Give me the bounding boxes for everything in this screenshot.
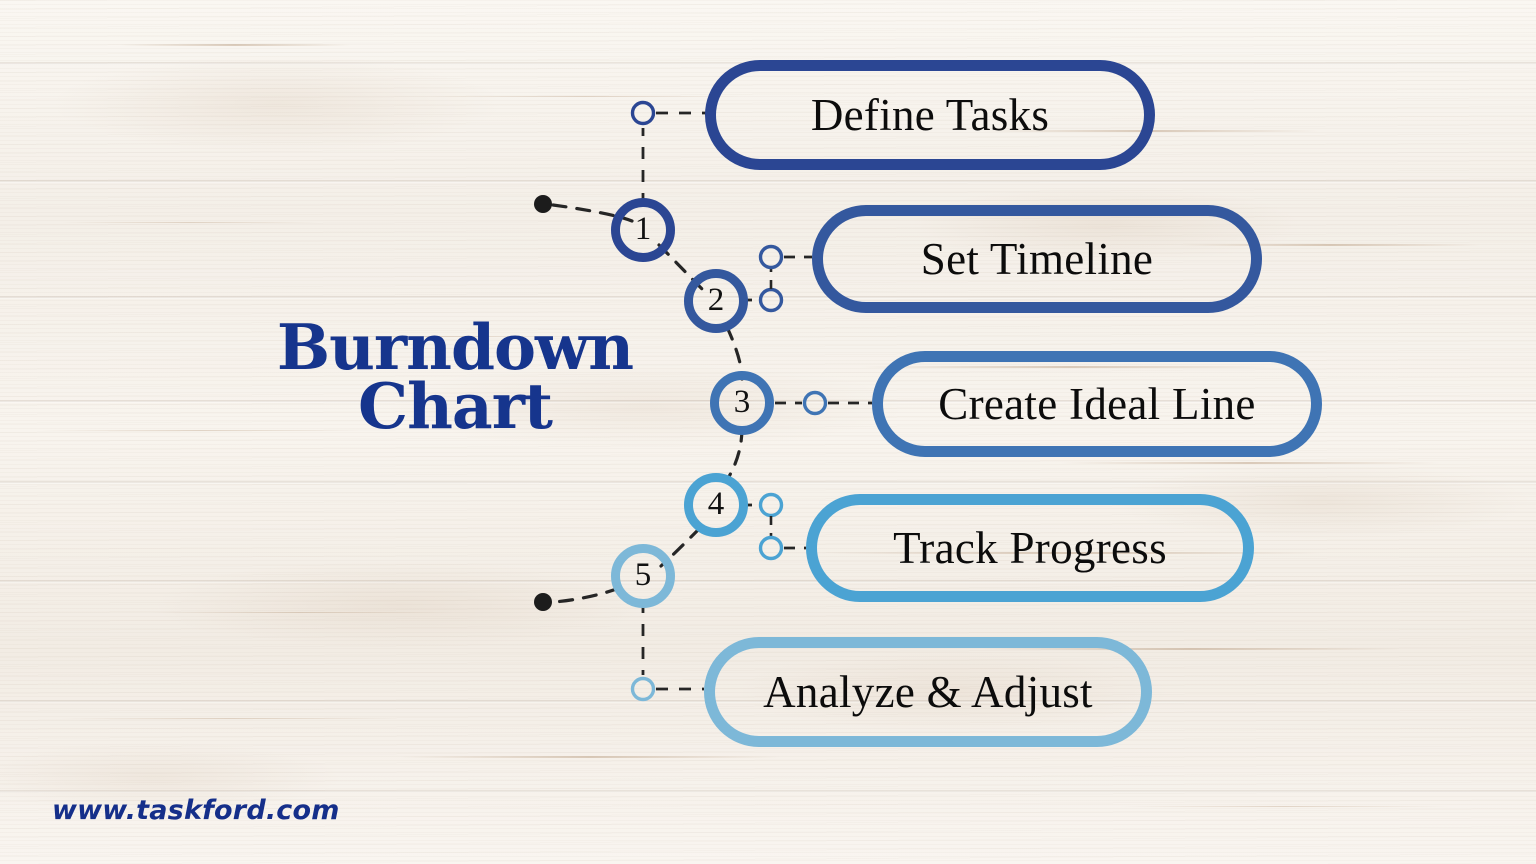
- infographic-canvas: Burndown Chart Define Tasks Set Timeline…: [0, 0, 1536, 864]
- step-pill-label: Analyze & Adjust: [763, 670, 1093, 715]
- branch-4-joint-upper-icon: [761, 495, 782, 516]
- branch-2-joint-lower-icon: [761, 290, 782, 311]
- step-node-5[interactable]: 5: [611, 544, 675, 608]
- step-node-number: 3: [734, 386, 751, 419]
- step-pill-track-progress[interactable]: Track Progress: [806, 494, 1254, 602]
- step-node-number: 2: [708, 284, 725, 317]
- step-pill-label: Set Timeline: [921, 237, 1153, 282]
- step-node-3[interactable]: 3: [710, 371, 774, 435]
- page-title: Burndown Chart: [240, 318, 670, 436]
- step-node-2[interactable]: 2: [684, 269, 748, 333]
- step-pill-label: Define Tasks: [811, 93, 1049, 138]
- spine-path-segment-3-to-4: [727, 428, 742, 480]
- end-dot-icon: [534, 593, 552, 611]
- step-pill-label: Create Ideal Line: [938, 382, 1255, 427]
- step-pill-define-tasks[interactable]: Define Tasks: [705, 60, 1155, 170]
- branch-4-joint-lower-icon: [761, 538, 782, 559]
- step-node-4[interactable]: 4: [684, 473, 748, 537]
- branch-3-joint-icon: [805, 393, 826, 414]
- spine-path-segment-5-to-end: [554, 588, 619, 602]
- step-node-number: 4: [708, 488, 725, 521]
- step-pill-label: Track Progress: [893, 526, 1167, 571]
- website-url[interactable]: www.taskford.com: [52, 795, 340, 826]
- branch-5-joint-icon: [633, 679, 654, 700]
- step-node-number: 1: [635, 213, 652, 246]
- step-pill-analyze-adjust[interactable]: Analyze & Adjust: [704, 637, 1152, 747]
- branch-1-joint-icon: [633, 103, 654, 124]
- step-node-number: 5: [635, 559, 652, 592]
- step-pill-create-ideal-line[interactable]: Create Ideal Line: [872, 351, 1322, 457]
- branch-2-joint-upper-icon: [761, 247, 782, 268]
- step-pill-set-timeline[interactable]: Set Timeline: [812, 205, 1262, 313]
- title-line-2: Chart: [240, 377, 670, 436]
- step-node-1[interactable]: 1: [611, 198, 675, 262]
- start-dot-icon: [534, 195, 552, 213]
